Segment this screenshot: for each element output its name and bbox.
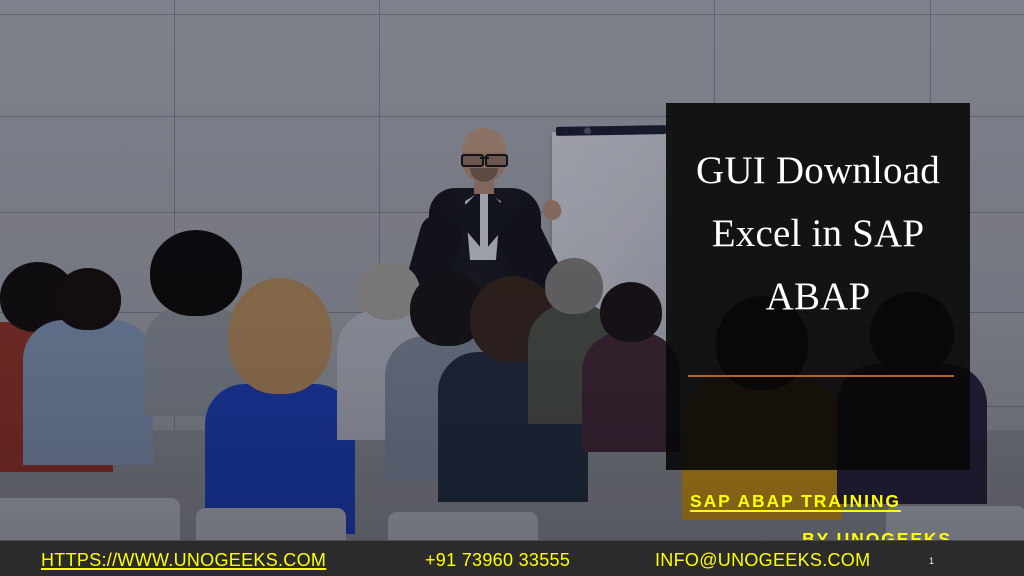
footer-email: INFO@UNOGEEKS.COM xyxy=(655,550,870,571)
title-line-2: Excel in SAP xyxy=(684,202,952,265)
slide-page-number: 1 xyxy=(929,556,934,566)
title-overlay-panel: GUI Download Excel in SAP ABAP SAP ABAP … xyxy=(666,103,970,470)
title-divider xyxy=(688,375,954,377)
slide-title: GUI Download Excel in SAP ABAP xyxy=(684,139,952,329)
presentation-slide: GUI Download Excel in SAP ABAP SAP ABAP … xyxy=(0,0,1024,576)
footer-phone: +91 73960 33555 xyxy=(425,550,570,571)
title-line-1: GUI Download xyxy=(684,139,952,202)
course-subtitle: SAP ABAP TRAINING xyxy=(690,491,901,512)
footer-website-link[interactable]: HTTPS://WWW.UNOGEEKS.COM xyxy=(41,550,326,571)
title-line-3: ABAP xyxy=(684,265,952,328)
footer-bar: HTTPS://WWW.UNOGEEKS.COM +91 73960 33555… xyxy=(0,540,1024,576)
